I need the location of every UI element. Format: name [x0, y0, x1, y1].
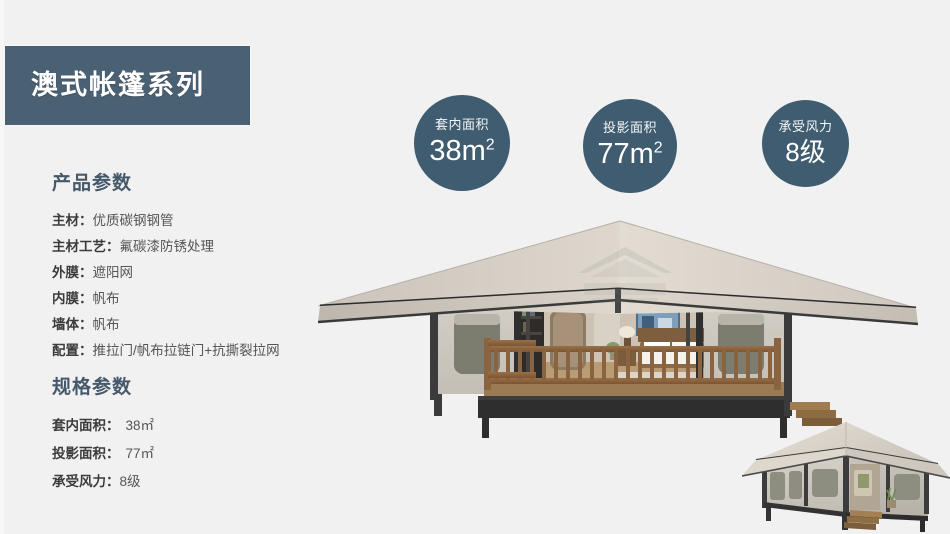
- spec-label: 承受风力：: [52, 474, 120, 489]
- badge-value: 77m2: [597, 139, 662, 171]
- product-params-heading: 产品参数: [52, 168, 280, 195]
- spec-row: 主材工艺：氟碳漆防锈处理: [52, 234, 280, 260]
- badge-number: 38: [429, 135, 461, 167]
- spec-value: 8级: [120, 474, 141, 489]
- badge-label: 承受风力: [778, 120, 832, 134]
- badge-unit: m: [630, 138, 654, 170]
- spec-value: 推拉门/帆布拉链门+抗撕裂拉网: [93, 343, 280, 358]
- spec-value: 优质碳钢钢管: [93, 213, 174, 228]
- badge-value: 8级: [785, 138, 825, 167]
- spec-row: 内膜：帆布: [52, 286, 280, 312]
- size-params-section: 规格参数 套内面积：38㎡ 投影面积：77㎡ 承受风力：8级: [52, 372, 154, 496]
- badge-number: 8级: [785, 137, 825, 167]
- badge-label: 套内面积: [435, 118, 489, 132]
- spec-row: 墙体：帆布: [52, 312, 280, 338]
- spec-label: 墙体：: [52, 317, 93, 332]
- badge-unit: m: [462, 135, 486, 167]
- left-edge-strip: [0, 0, 4, 534]
- spec-row: 主材：优质碳钢钢管: [52, 208, 280, 234]
- spec-label: 内膜：: [52, 291, 93, 306]
- spec-value: 帆布: [93, 291, 120, 306]
- spec-value: 38㎡: [126, 418, 155, 433]
- series-title-text: 澳式帐篷系列: [31, 72, 205, 99]
- tent-small-illustration: [742, 416, 950, 534]
- spec-label: 主材：: [52, 213, 93, 228]
- spec-label: 外膜：: [52, 265, 93, 280]
- badge-number: 77: [597, 138, 629, 170]
- spec-label: 套内面积：: [52, 418, 120, 433]
- spec-value: 遮阳网: [93, 265, 134, 280]
- spec-row: 配置：推拉门/帆布拉链门+抗撕裂拉网: [52, 338, 280, 364]
- spec-label: 配置：: [52, 343, 93, 358]
- badge-value: 38m2: [429, 136, 494, 168]
- tent-roof: [318, 221, 918, 324]
- size-params-heading: 规格参数: [52, 372, 154, 399]
- spec-row: 投影面积：77㎡: [52, 440, 154, 468]
- badge-wind-rating: 承受风力 8级: [762, 100, 849, 187]
- spec-row: 套内面积：38㎡: [52, 412, 154, 440]
- spec-row: 外膜：遮阳网: [52, 260, 280, 286]
- spec-value: 帆布: [93, 317, 120, 332]
- badge-label: 投影面积: [603, 121, 657, 135]
- badge-indoor-area: 套内面积 38m2: [414, 95, 510, 191]
- spec-label: 投影面积：: [52, 446, 120, 461]
- spec-label: 主材工艺：: [52, 239, 120, 254]
- badge-projected-area: 投影面积 77m2: [583, 99, 677, 193]
- product-params-section: 产品参数 主材：优质碳钢钢管 主材工艺：氟碳漆防锈处理 外膜：遮阳网 内膜：帆布…: [52, 168, 280, 364]
- spec-row: 承受风力：8级: [52, 468, 154, 496]
- series-title-banner: 澳式帐篷系列: [5, 46, 250, 125]
- spec-value: 77㎡: [126, 446, 155, 461]
- spec-value: 氟碳漆防锈处理: [120, 239, 215, 254]
- badge-unit-exponent: 2: [486, 137, 495, 154]
- badge-unit-exponent: 2: [654, 140, 663, 157]
- slide-canvas: 澳式帐篷系列 产品参数 主材：优质碳钢钢管 主材工艺：氟碳漆防锈处理 外膜：遮阳…: [0, 0, 950, 534]
